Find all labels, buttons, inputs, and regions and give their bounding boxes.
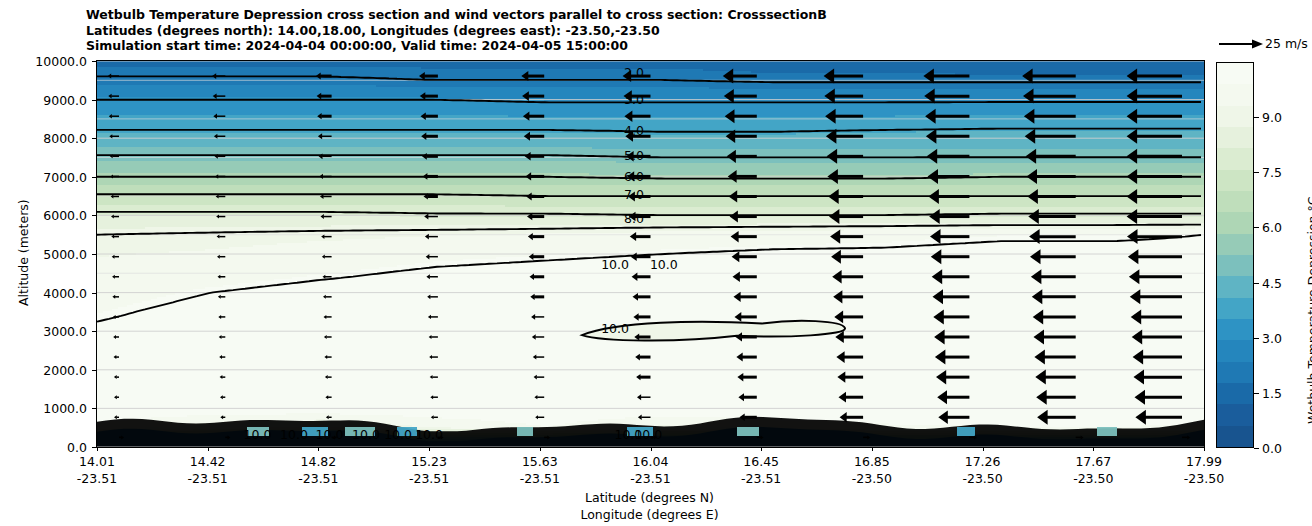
x-tick-mark bbox=[208, 447, 209, 451]
colorbar-tick-mark bbox=[1254, 283, 1259, 284]
colorbar-tick-label: 7.5 bbox=[1262, 165, 1282, 180]
colorbar-tick-label: 3.0 bbox=[1262, 330, 1282, 345]
contour-label: 10.0 bbox=[352, 427, 380, 442]
x-tick-mark bbox=[983, 447, 984, 451]
contour-label: 10.0 bbox=[384, 427, 412, 442]
x-tick-label-lon: -23.51 bbox=[611, 471, 691, 486]
y-tick-mark bbox=[92, 293, 96, 294]
colorbar-segment bbox=[1217, 63, 1253, 84]
y-tick-mark bbox=[92, 61, 96, 62]
colorbar-segment bbox=[1217, 298, 1253, 319]
colorbar-segment bbox=[1217, 404, 1253, 425]
contour-label: 7.0 bbox=[624, 187, 644, 202]
arrow-right-icon bbox=[1215, 34, 1265, 54]
reference-wind-label: 25 m/s bbox=[1265, 36, 1308, 51]
x-tick-label-lon: -23.51 bbox=[500, 471, 580, 486]
colorbar-segment bbox=[1217, 212, 1253, 233]
x-tick-label-lat: 15.63 bbox=[500, 454, 580, 469]
colorbar-segment bbox=[1217, 127, 1253, 148]
x-tick-mark bbox=[1204, 447, 1205, 451]
x-axis-label-latitude: Latitude (degrees N) bbox=[96, 490, 1203, 505]
x-tick-label-lon: -23.51 bbox=[168, 471, 248, 486]
contour-label: 3.0 bbox=[624, 92, 644, 107]
x-tick-mark bbox=[97, 447, 98, 451]
x-tick-label-lon: -23.50 bbox=[1164, 471, 1244, 486]
reference-wind-vector: 25 m/s bbox=[1215, 34, 1310, 54]
x-tick-label-lat: 16.04 bbox=[611, 454, 691, 469]
contour-label: 10.0 bbox=[601, 257, 629, 272]
y-tick-label: 0.0 bbox=[0, 440, 87, 455]
x-tick-mark bbox=[318, 447, 319, 451]
colorbar-tick-mark bbox=[1254, 227, 1259, 228]
title-line-1: Wetbulb Temperature Depression cross sec… bbox=[86, 7, 827, 23]
x-tick-label-lon: -23.50 bbox=[832, 471, 912, 486]
title-line-2: Latitudes (degrees north): 14.00,18.00, … bbox=[86, 23, 827, 39]
x-tick-mark bbox=[872, 447, 873, 451]
y-tick-mark bbox=[92, 138, 96, 139]
contour-label: 8.0 bbox=[624, 211, 644, 226]
colorbar[interactable] bbox=[1216, 62, 1254, 448]
colorbar-segment bbox=[1217, 340, 1253, 361]
y-tick-label: 5000.0 bbox=[0, 247, 87, 262]
contour-label: 4.0 bbox=[624, 123, 644, 138]
x-tick-label-lon: -23.51 bbox=[389, 471, 469, 486]
y-tick-mark bbox=[92, 408, 96, 409]
x-tick-mark bbox=[1093, 447, 1094, 451]
y-tick-label: 2000.0 bbox=[0, 362, 87, 377]
figure-canvas: Wetbulb Temperature Depression cross sec… bbox=[0, 0, 1312, 526]
y-tick-mark bbox=[92, 447, 96, 448]
y-tick-mark bbox=[92, 331, 96, 332]
x-tick-label-lon: -23.50 bbox=[1053, 471, 1133, 486]
colorbar-segment bbox=[1217, 170, 1253, 191]
colorbar-segment bbox=[1217, 255, 1253, 276]
colorbar-segment bbox=[1217, 191, 1253, 212]
y-tick-label: 10000.0 bbox=[0, 54, 87, 69]
colorbar-tick-mark bbox=[1254, 117, 1259, 118]
contour-label: 10.0 bbox=[650, 257, 678, 272]
colorbar-segment bbox=[1217, 106, 1253, 127]
plot-render-surface: 2.03.04.05.06.07.08.010.010.010.010.010.… bbox=[97, 61, 1204, 447]
y-tick-label: 3000.0 bbox=[0, 324, 87, 339]
contour-label: 5.0 bbox=[624, 148, 644, 163]
x-tick-label-lon: -23.51 bbox=[721, 471, 801, 486]
y-tick-label: 6000.0 bbox=[0, 208, 87, 223]
x-tick-label-lat: 14.82 bbox=[278, 454, 358, 469]
colorbar-segment bbox=[1217, 276, 1253, 297]
y-tick-mark bbox=[92, 370, 96, 371]
x-tick-label-lon: -23.51 bbox=[278, 471, 358, 486]
y-tick-label: 4000.0 bbox=[0, 285, 87, 300]
x-axis-label-longitude: Longitude (degrees E) bbox=[96, 507, 1203, 522]
title-line-3: Simulation start time: 2024-04-04 00:00:… bbox=[86, 38, 827, 54]
x-tick-label-lat: 14.42 bbox=[168, 454, 248, 469]
colorbar-segment bbox=[1217, 362, 1253, 383]
x-tick-label-lat: 14.01 bbox=[57, 454, 137, 469]
contour-label: 10.0 bbox=[244, 427, 272, 442]
contour-label: 10.0 bbox=[601, 321, 629, 336]
contour-label: 10.0 bbox=[280, 427, 308, 442]
x-tick-mark bbox=[540, 447, 541, 451]
colorbar-tick-label: 9.0 bbox=[1262, 110, 1282, 125]
x-tick-label-lat: 17.26 bbox=[943, 454, 1023, 469]
contour-label: 6.0 bbox=[624, 169, 644, 184]
x-tick-label-lat: 17.99 bbox=[1164, 454, 1244, 469]
y-tick-mark bbox=[92, 215, 96, 216]
y-tick-mark bbox=[92, 254, 96, 255]
colorbar-tick-label: 6.0 bbox=[1262, 220, 1282, 235]
colorbar-tick-label: 4.5 bbox=[1262, 275, 1282, 290]
colorbar-segment bbox=[1217, 234, 1253, 255]
colorbar-tick-mark bbox=[1254, 338, 1259, 339]
x-tick-mark bbox=[429, 447, 430, 451]
x-tick-mark bbox=[761, 447, 762, 451]
figure-title: Wetbulb Temperature Depression cross sec… bbox=[86, 7, 827, 54]
y-tick-label: 9000.0 bbox=[0, 92, 87, 107]
colorbar-segment bbox=[1217, 148, 1253, 169]
y-tick-label: 1000.0 bbox=[0, 401, 87, 416]
x-tick-mark bbox=[651, 447, 652, 451]
cross-section-plot[interactable]: 2.03.04.05.06.07.08.010.010.010.010.010.… bbox=[96, 60, 1205, 448]
colorbar-segment bbox=[1217, 84, 1253, 105]
colorbar-tick-label: 0.0 bbox=[1262, 441, 1282, 456]
x-tick-label-lat: 16.45 bbox=[721, 454, 801, 469]
y-tick-mark bbox=[92, 100, 96, 101]
y-axis-label: Altitude (meters) bbox=[16, 199, 31, 306]
x-tick-label-lat: 16.85 bbox=[832, 454, 912, 469]
colorbar-segment bbox=[1217, 319, 1253, 340]
colorbar-segment bbox=[1217, 383, 1253, 404]
colorbar-tick-mark bbox=[1254, 393, 1259, 394]
y-tick-label: 8000.0 bbox=[0, 131, 87, 146]
contour-label: 2.0 bbox=[624, 65, 644, 80]
contour-label: 10.0 bbox=[316, 427, 344, 442]
colorbar-tick-mark bbox=[1254, 172, 1259, 173]
x-tick-label-lon: -23.50 bbox=[943, 471, 1023, 486]
colorbar-segment bbox=[1217, 426, 1253, 447]
x-tick-label-lat: 15.23 bbox=[389, 454, 469, 469]
colorbar-tick-mark bbox=[1254, 448, 1259, 449]
contour-label: 10.0 bbox=[415, 427, 443, 442]
x-tick-label-lon: -23.51 bbox=[57, 471, 137, 486]
contour-label: 10.0 bbox=[634, 427, 662, 442]
colorbar-axis-label: Wetbulb Temperature Depression °C bbox=[1305, 197, 1312, 424]
y-tick-mark bbox=[92, 177, 96, 178]
y-tick-label: 7000.0 bbox=[0, 169, 87, 184]
x-tick-label-lat: 17.67 bbox=[1053, 454, 1133, 469]
colorbar-tick-label: 1.5 bbox=[1262, 385, 1282, 400]
